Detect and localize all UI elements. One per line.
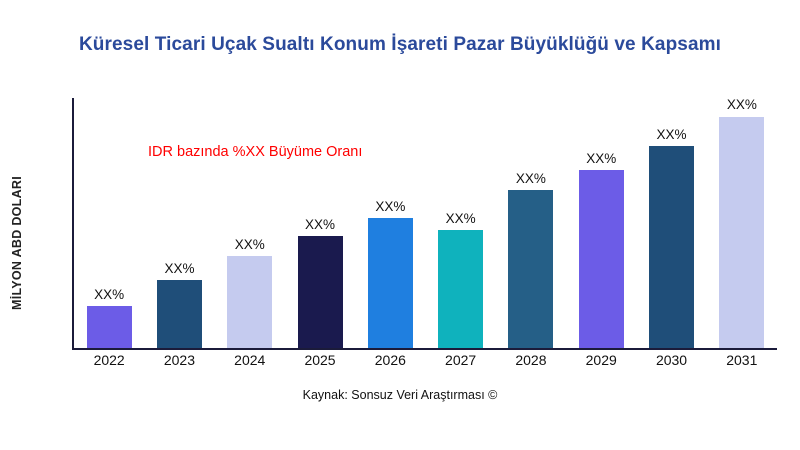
table-row[interactable] [368, 218, 413, 348]
bar-data-label: XX% [305, 218, 335, 232]
table-row[interactable] [298, 236, 343, 348]
bar-slot: XX% [285, 98, 355, 348]
table-row[interactable] [579, 170, 624, 348]
table-row[interactable] [227, 256, 272, 348]
bar-slot: XX% [144, 98, 214, 348]
table-row[interactable] [157, 280, 202, 348]
table-row[interactable] [438, 230, 483, 348]
chart-title: Küresel Ticari Uçak Sualtı Konum İşareti… [0, 34, 800, 56]
x-tick-label: 2025 [285, 352, 355, 368]
bar-slot: XX% [496, 98, 566, 348]
source-note: Kaynak: Sonsuz Veri Araştırması © [0, 388, 800, 402]
x-axis-line [72, 348, 777, 350]
table-row[interactable] [508, 190, 553, 348]
y-axis-label: MİLYON ABD DOLARI [10, 60, 28, 310]
bar-data-label: XX% [94, 288, 124, 302]
bar-slot: XX% [707, 98, 777, 348]
x-tick-label: 2030 [636, 352, 706, 368]
x-tick-label: 2028 [496, 352, 566, 368]
growth-rate-annotation: IDR bazında %XX Büyüme Oranı [148, 144, 362, 160]
bar-data-label: XX% [375, 200, 405, 214]
bar-slot: XX% [74, 98, 144, 348]
bar-data-label: XX% [235, 238, 265, 252]
x-tick-label: 2024 [215, 352, 285, 368]
bar-slot: XX% [215, 98, 285, 348]
table-row[interactable] [719, 117, 764, 349]
chart-container: Küresel Ticari Uçak Sualtı Konum İşareti… [0, 0, 800, 450]
bar-data-label: XX% [164, 262, 194, 276]
bar-slot: XX% [355, 98, 425, 348]
x-tick-label: 2027 [425, 352, 495, 368]
bar-data-label: XX% [446, 212, 476, 226]
bar-slot: XX% [636, 98, 706, 348]
bar-series: XX% XX% XX% XX% XX% XX% [74, 98, 777, 348]
bar-data-label: XX% [727, 98, 757, 112]
x-tick-label: 2031 [707, 352, 777, 368]
table-row[interactable] [649, 146, 694, 348]
bar-data-label: XX% [586, 152, 616, 166]
bar-data-label: XX% [516, 172, 546, 186]
x-tick-label: 2023 [144, 352, 214, 368]
bar-slot: XX% [425, 98, 495, 348]
table-row[interactable] [87, 306, 132, 348]
plot-area: XX% XX% XX% XX% XX% XX% [72, 98, 777, 350]
bar-slot: XX% [566, 98, 636, 348]
x-axis-tick-labels: 2022 2023 2024 2025 2026 2027 2028 2029 … [74, 352, 777, 368]
x-tick-label: 2022 [74, 352, 144, 368]
x-tick-label: 2026 [355, 352, 425, 368]
x-tick-label: 2029 [566, 352, 636, 368]
bar-data-label: XX% [657, 128, 687, 142]
